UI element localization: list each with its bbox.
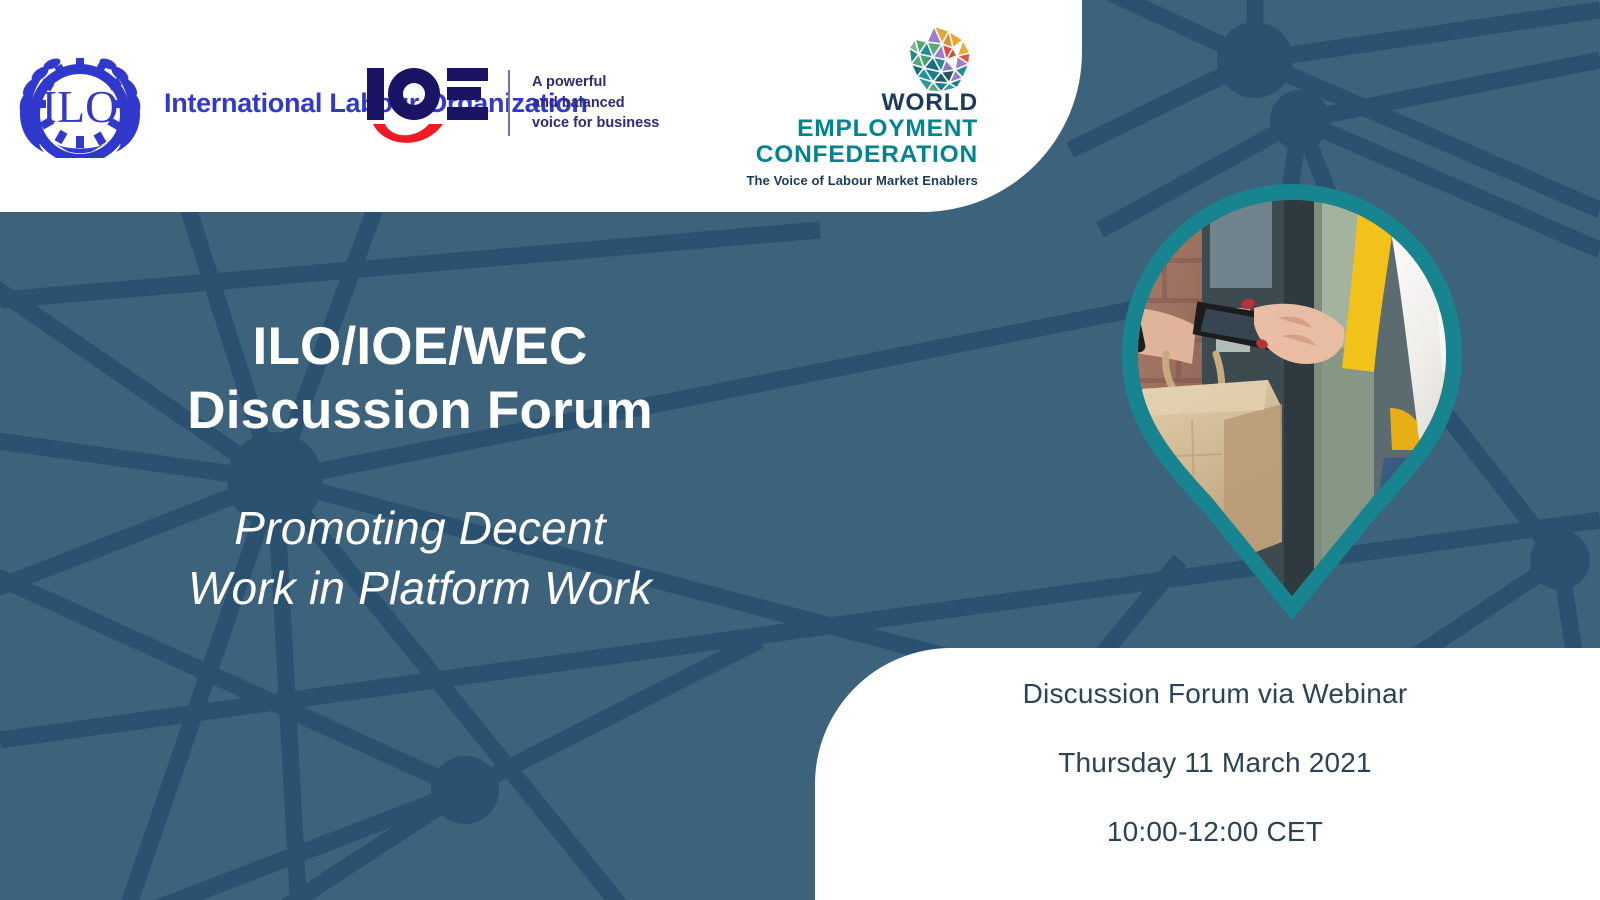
map-pin-photo — [1092, 158, 1492, 648]
ioe-divider — [508, 70, 510, 136]
event-banner: ILO International Labour Organization A … — [0, 0, 1600, 900]
wec-line-employment: EMPLOYMENT — [746, 116, 978, 142]
page-subtitle: Promoting Decent Work in Platform Work — [0, 499, 840, 619]
info-line-date: Thursday 11 March 2021 — [1058, 749, 1372, 777]
logo-row: ILO International Labour Organization A … — [0, 0, 1040, 212]
svg-text:ILO: ILO — [42, 81, 119, 132]
pin-photo-content — [1092, 158, 1492, 648]
info-line-time: 10:00-12:00 CET — [1107, 818, 1323, 846]
wec-tagline: The Voice of Labour Market Enablers — [746, 173, 978, 188]
headline-area: ILO/IOE/WEC Discussion Forum Promoting D… — [0, 315, 840, 619]
ilo-emblem-icon: ILO — [10, 48, 150, 158]
logo-header-panel: ILO International Labour Organization A … — [0, 0, 1082, 212]
wec-wordmark: WORLD EMPLOYMENT CONFEDERATION The Voice… — [746, 90, 978, 188]
page-title: ILO/IOE/WEC Discussion Forum — [0, 315, 840, 443]
event-info-panel: Discussion Forum via Webinar Thursday 11… — [815, 648, 1600, 900]
logo-ioe[interactable]: A powerful and balanced voice for busine… — [365, 66, 659, 146]
ioe-logo-icon — [365, 66, 490, 146]
wec-line-world: WORLD — [746, 90, 978, 116]
wec-line-confederation: CONFEDERATION — [746, 142, 978, 168]
ioe-tagline: A powerful and balanced voice for busine… — [532, 66, 659, 134]
info-line-format: Discussion Forum via Webinar — [1023, 680, 1408, 708]
